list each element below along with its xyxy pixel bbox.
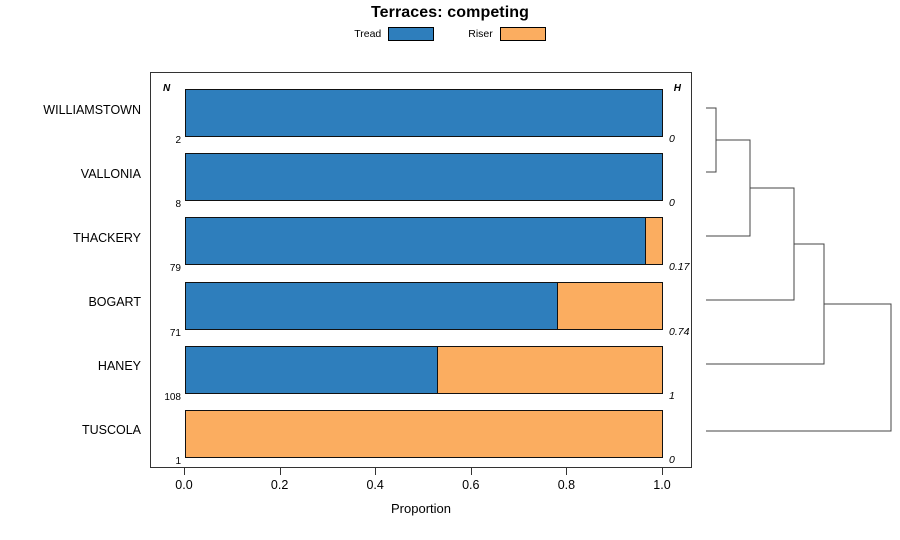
row-label-thackery: THACKERY [0,231,141,245]
x-tick-label: 0.4 [355,478,395,492]
n-value-thackery: 79 [151,263,181,274]
x-tick [662,468,663,475]
stacked-bar-williamstown[interactable] [185,89,663,137]
table-row: 71 0.74 [151,282,693,346]
x-tick-label: 0.8 [546,478,586,492]
stacked-bar-thackery[interactable] [185,217,663,265]
n-value-williamstown: 2 [151,135,181,146]
page-title: Terraces: competing [0,4,900,22]
table-row: 1 0 [151,410,693,474]
chart-legend: Tread Riser [0,27,900,41]
stacked-bar-tuscola[interactable] [185,410,663,458]
bar-segment-riser[interactable] [557,283,662,329]
x-axis: 0.0 0.2 0.4 0.6 0.8 1.0 Proportion [150,468,692,528]
legend-item-riser: Riser [468,27,546,41]
legend-swatch-riser [500,27,546,41]
stacked-bar-bogart[interactable] [185,282,663,330]
row-label-williamstown: WILLIAMSTOWN [0,103,141,117]
n-value-bogart: 71 [151,328,181,339]
table-row: 79 0.17 [151,217,693,281]
legend-item-tread: Tread [354,27,434,41]
stacked-bar-haney[interactable] [185,346,663,394]
row-label-tuscola: TUSCOLA [0,423,141,437]
row-label-haney: HANEY [0,359,141,373]
x-tick [471,468,472,475]
row-label-bogart: BOGART [0,295,141,309]
table-row: 8 0 [151,153,693,217]
x-axis-label: Proportion [150,501,692,516]
dendrogram-link-m4 [706,244,824,364]
dendrogram-svg [692,72,900,468]
n-value-haney: 108 [151,392,181,403]
dendrogram [692,72,900,468]
bar-segment-riser[interactable] [186,411,662,457]
x-tick-label: 0.0 [164,478,204,492]
row-label-vallonia: VALLONIA [0,167,141,181]
legend-label-riser: Riser [468,28,493,40]
x-tick-label: 0.6 [451,478,491,492]
dendrogram-link-m1 [706,108,716,172]
dendrogram-link-m2 [706,140,750,236]
x-tick [566,468,567,475]
x-tick [375,468,376,475]
x-tick [184,468,185,475]
bar-segment-tread[interactable] [186,90,662,136]
legend-label-tread: Tread [354,28,381,40]
table-row: 108 1 [151,346,693,410]
x-tick-label: 0.2 [260,478,300,492]
x-tick [280,468,281,475]
bar-segment-riser[interactable] [437,347,662,393]
stacked-bar-vallonia[interactable] [185,153,663,201]
bar-segment-riser[interactable] [645,218,662,264]
bar-segment-tread[interactable] [186,283,557,329]
n-value-vallonia: 8 [151,199,181,210]
legend-swatch-tread [388,27,434,41]
table-row: 2 0 [151,89,693,153]
x-tick-label: 1.0 [642,478,682,492]
dendrogram-link-m5 [706,304,891,431]
bar-segment-tread[interactable] [186,154,662,200]
bar-segment-tread[interactable] [186,218,645,264]
plot-panel: N H 2 0 8 0 79 0.17 71 0.74 [150,72,692,468]
n-value-tuscola: 1 [151,456,181,467]
bar-segment-tread[interactable] [186,347,437,393]
